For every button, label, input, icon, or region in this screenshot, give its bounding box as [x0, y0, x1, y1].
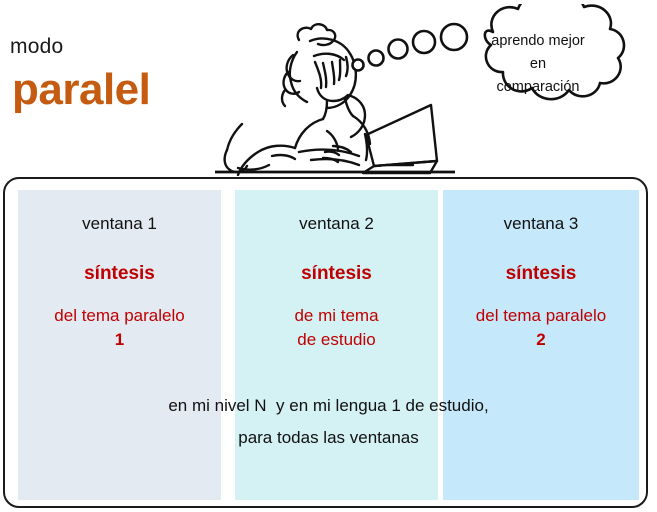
window-1-description-line-1: del tema paralelo [18, 304, 221, 328]
window-2-title: ventana 2 [235, 214, 438, 234]
mode-label: modo [10, 36, 63, 57]
window-1-description-line-2: 1 [18, 328, 221, 352]
window-3-description: del tema paralelo 2 [443, 304, 639, 352]
panel-footer-note: en mi nivel N y en mi lengua 1 de estudi… [18, 390, 639, 454]
mode-value: paralel [12, 68, 150, 112]
window-1-title: ventana 1 [18, 214, 221, 234]
window-2-description: de mi tema de estudio [235, 304, 438, 352]
window-1-description: del tema paralelo 1 [18, 304, 221, 352]
window-3-description-line-1: del tema paralelo [443, 304, 639, 328]
window-2-description-line-2: de estudio [235, 328, 438, 352]
thought-bubble-text: aprendo mejor en comparación [458, 30, 618, 99]
thought-line-2: en [458, 53, 618, 76]
window-1-synthesis-label: síntesis [18, 263, 221, 285]
window-3-description-line-2: 2 [443, 328, 639, 352]
footer-note-line-2: para todas las ventanas [18, 422, 639, 454]
thought-line-3: comparación [458, 76, 618, 99]
window-2-synthesis-label: síntesis [235, 263, 438, 285]
window-3-synthesis-label: síntesis [443, 263, 639, 285]
header-area: modo paralel [0, 0, 657, 176]
thought-line-1: aprendo mejor [458, 30, 618, 53]
window-2-description-line-1: de mi tema [235, 304, 438, 328]
window-3-title: ventana 3 [443, 214, 639, 234]
footer-note-line-1: en mi nivel N y en mi lengua 1 de estudi… [18, 390, 639, 422]
